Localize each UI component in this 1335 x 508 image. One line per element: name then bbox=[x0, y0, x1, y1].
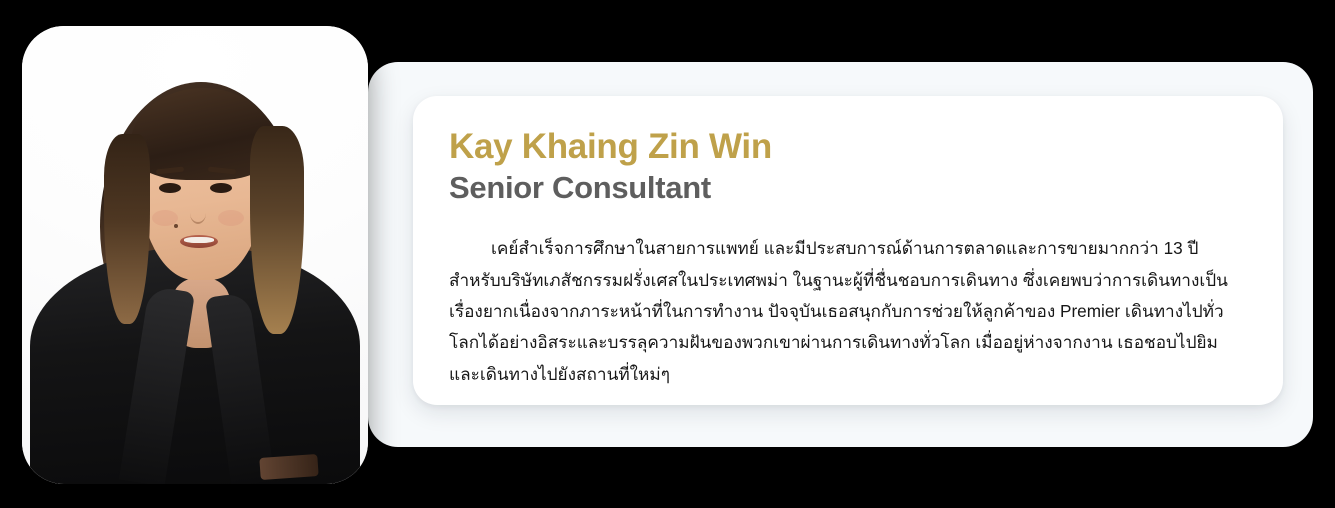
eye-left bbox=[159, 183, 181, 193]
portrait-background bbox=[22, 26, 368, 484]
portrait-image bbox=[22, 26, 368, 484]
hair-strand-right bbox=[250, 126, 304, 334]
hair-strand-left bbox=[104, 134, 150, 324]
bio-content-card: Kay Khaing Zin Win Senior Consultant เคย… bbox=[413, 96, 1283, 405]
facial-mole bbox=[174, 224, 178, 228]
belt-shape bbox=[259, 454, 318, 480]
cheek-right bbox=[218, 210, 244, 226]
eye-right bbox=[210, 183, 232, 193]
consultant-photo-card bbox=[22, 26, 368, 484]
profile-card-stage: Kay Khaing Zin Win Senior Consultant เคย… bbox=[0, 0, 1335, 508]
nose-shape bbox=[190, 202, 206, 224]
consultant-name: Kay Khaing Zin Win bbox=[449, 126, 1243, 167]
consultant-bio: เคย์สำเร็จการศึกษาในสายการแพทย์ และมีประ… bbox=[449, 233, 1243, 389]
consultant-role: Senior Consultant bbox=[449, 169, 1243, 206]
teeth-shape bbox=[184, 237, 214, 243]
